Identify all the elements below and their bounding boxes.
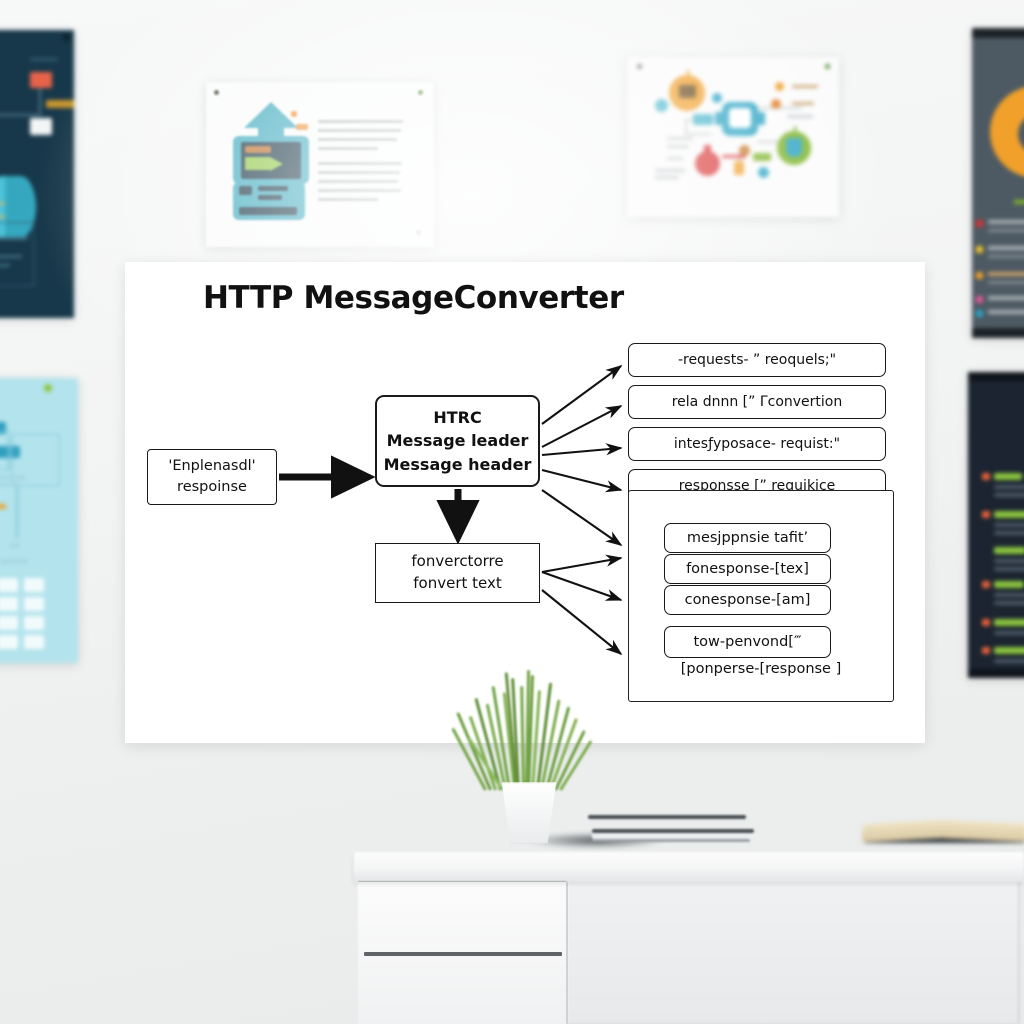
- poster-ui-wireframe-keypad: [0, 378, 78, 663]
- group-item-2[interactable]: fonesponse-[tex]: [664, 554, 831, 584]
- plant-foliage: [470, 672, 590, 790]
- page-title: HTTP MessageConverter: [203, 280, 624, 316]
- node-input-line-1: 'Enplenasdl': [168, 456, 255, 477]
- output-box-requests[interactable]: -requests- ” reoquels;": [628, 343, 886, 377]
- desk: [340, 852, 1024, 1024]
- output-box-conversion[interactable]: rela dnnn [” Γconvertion: [628, 385, 886, 419]
- group-item-1[interactable]: mesjppnsie taﬁt’: [664, 523, 831, 553]
- output-box-request[interactable]: intesƒyposace- requist:": [628, 427, 886, 461]
- node-conv-line-2: fonvert text: [413, 573, 502, 595]
- group-item-3[interactable]: conesponse-[am]: [664, 585, 831, 615]
- node-hmc-line-2: Message leader: [387, 429, 529, 452]
- potted-grass-plant: [470, 672, 590, 847]
- node-hmc-line-1: HTRC: [433, 406, 481, 429]
- group-footer-label: [ponperse-[response ]: [629, 661, 893, 677]
- poster-gear-checklist: [972, 28, 1024, 338]
- poster-devops-gears-diagram: [627, 57, 839, 217]
- whiteboard: HTTP MessageConverter: [125, 262, 925, 743]
- node-input-response[interactable]: 'Enplenasdl' respoinse: [147, 449, 277, 505]
- node-input-line-2: respoinse: [177, 477, 247, 498]
- poster-monitor-upload-article: [206, 82, 434, 247]
- poster-code-editor-screenshot: [968, 372, 1024, 678]
- node-hmc-line-3: Message header: [384, 453, 532, 476]
- node-http-message-converter[interactable]: HTRC Message leader Message header: [375, 395, 540, 487]
- group-item-4[interactable]: tow-penvond[‴: [664, 626, 831, 658]
- output-group-panel: mesjppnsie taﬁt’ fonesponse-[tex] conesp…: [628, 490, 894, 702]
- office-scene: HTTP MessageConverter: [0, 0, 1024, 1024]
- poster-network-globe-infographic: [0, 30, 74, 318]
- node-convert-text[interactable]: fonverctorre fonvert text: [375, 543, 540, 603]
- node-conv-line-1: fonverctorre: [411, 551, 503, 573]
- open-book: [862, 822, 1024, 852]
- stacked-books: [588, 812, 758, 854]
